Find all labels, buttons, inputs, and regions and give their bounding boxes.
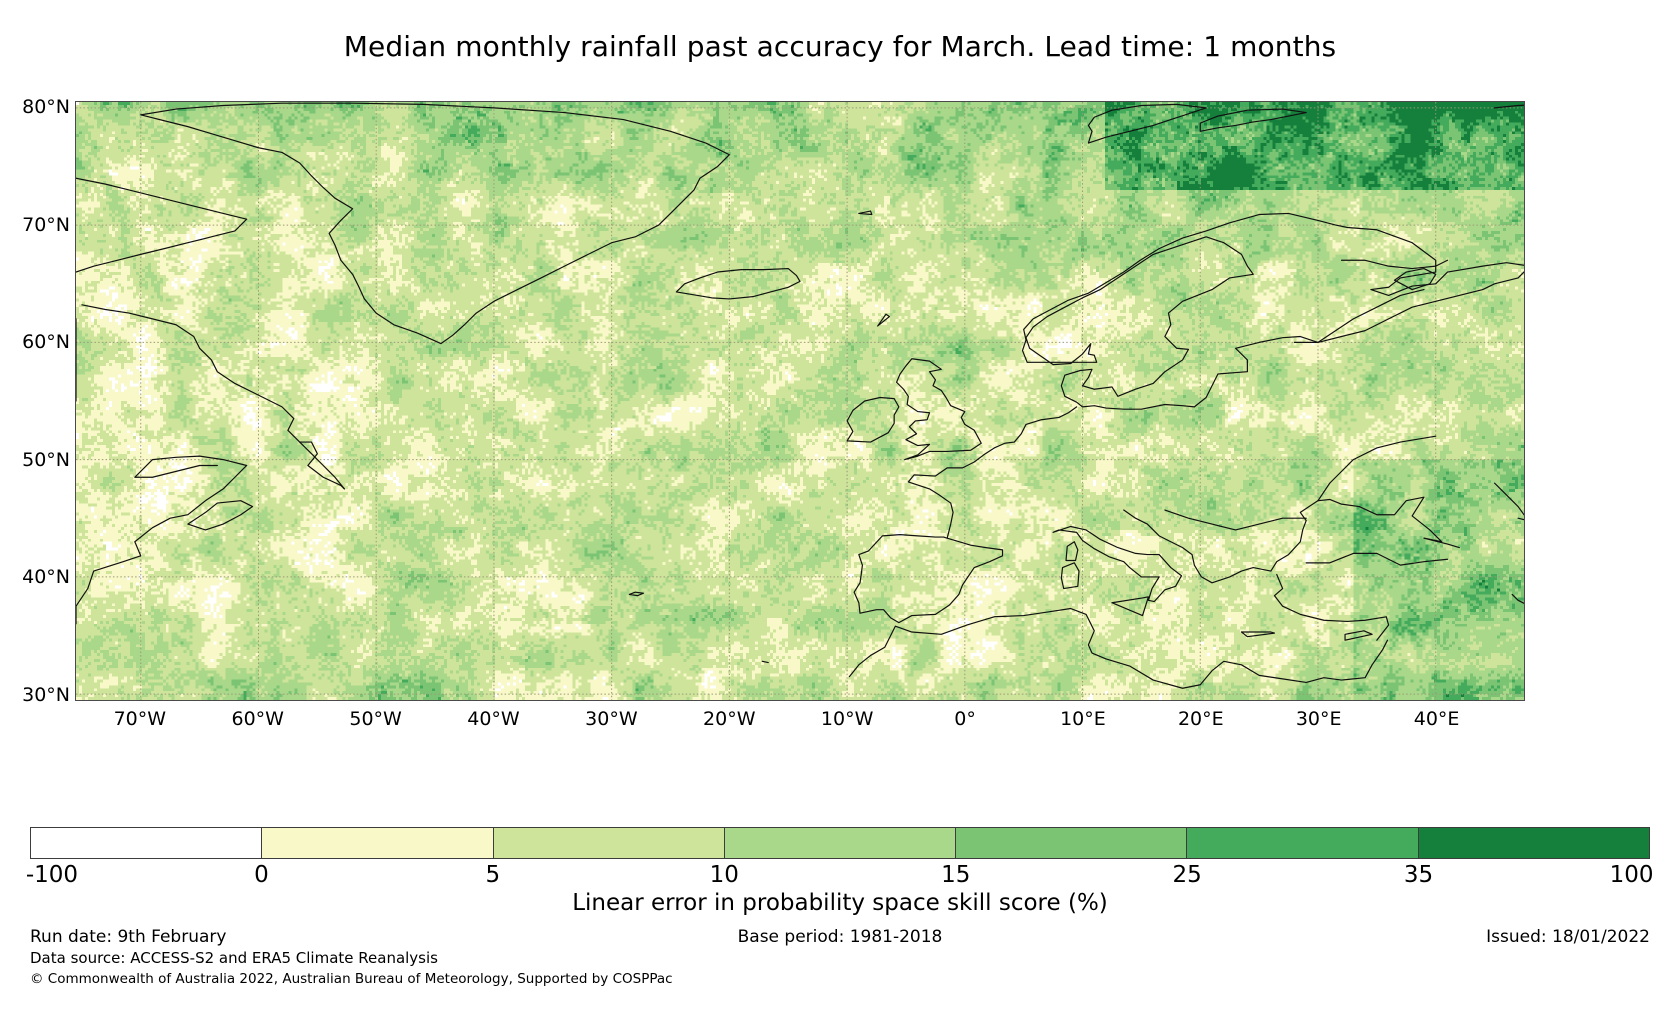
colorbar-segment-3[interactable] [725,828,956,858]
colorbar-tick-0: 0 [254,862,269,888]
longitude-tick-8: 10°E [1060,708,1106,730]
longitude-tick-0: 70°W [114,708,166,730]
colorbar-segment-6[interactable] [1419,828,1649,858]
colorbar-tick-neg100: -100 [26,862,78,888]
colorbar-segment-2[interactable] [494,828,725,858]
colorbar-tick-25: 25 [1173,862,1202,888]
longitude-tick-2: 50°W [349,708,401,730]
colorbar-segment-4[interactable] [956,828,1187,858]
issued-date: Issued: 18/01/2022 [1486,927,1650,947]
colorbar-tick-100: 100 [1610,862,1654,888]
longitude-tick-1: 60°W [231,708,283,730]
colorbar-tick-5: 5 [486,862,501,888]
latitude-tick-40: 40°N [0,566,70,588]
colorbar-title: Linear error in probability space skill … [0,890,1680,916]
colorbar-tick-35: 35 [1404,862,1433,888]
longitude-tick-11: 40°E [1414,708,1460,730]
latitude-tick-80: 80°N [0,96,70,118]
longitude-tick-5: 20°W [703,708,755,730]
colorbar-tick-10: 10 [710,862,739,888]
data-source: Data source: ACCESS-S2 and ERA5 Climate … [30,948,673,969]
colorbar[interactable] [30,827,1650,859]
longitude-tick-4: 30°W [585,708,637,730]
colorbar-tick-15: 15 [941,862,970,888]
colorbar-segment-5[interactable] [1187,828,1418,858]
colorbar-segment-1[interactable] [262,828,493,858]
map-plot-area [75,101,1525,701]
page-title: Median monthly rainfall past accuracy fo… [0,30,1680,63]
latitude-tick-50: 50°N [0,449,70,471]
longitude-tick-6: 10°W [821,708,873,730]
longitude-tick-7: 0° [954,708,976,730]
latitude-tick-30: 30°N [0,684,70,706]
colorbar-segment-0[interactable] [31,828,262,858]
coastline-overlay [76,102,1524,700]
copyright: © Commonwealth of Australia 2022, Austra… [30,969,673,990]
latitude-tick-60: 60°N [0,331,70,353]
longitude-tick-3: 40°W [467,708,519,730]
latitude-tick-70: 70°N [0,214,70,236]
longitude-tick-9: 20°E [1178,708,1224,730]
longitude-tick-10: 30°E [1296,708,1342,730]
base-period: Base period: 1981-2018 [0,927,1680,947]
